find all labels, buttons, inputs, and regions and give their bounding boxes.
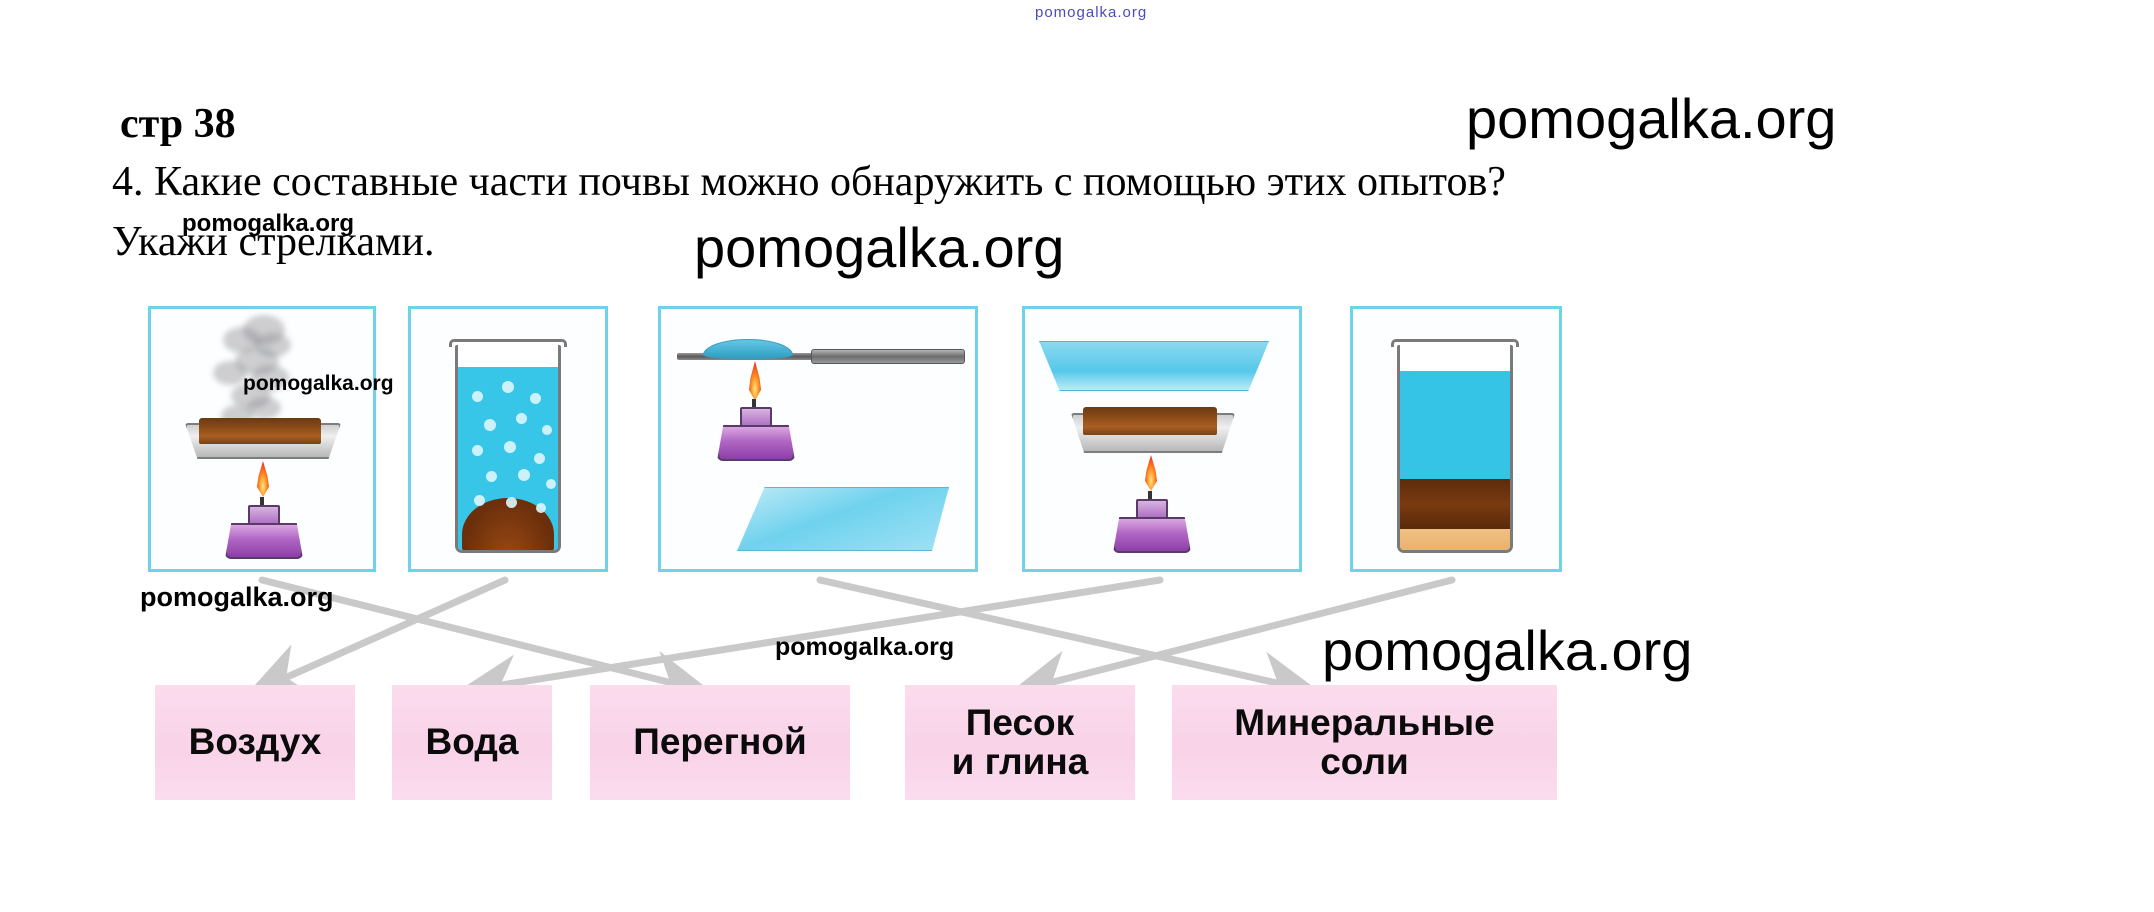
spirit-lamp-icon (1113, 491, 1187, 553)
watermark-large-center: pomogalka.org (694, 215, 1064, 280)
worksheet-page: стр 38 4. Какие составные части почвы мо… (0, 0, 2154, 912)
spirit-lamp-icon (717, 399, 791, 461)
beaker-icon (1397, 345, 1513, 553)
experiment-panel-soil-in-water (408, 306, 608, 572)
flame-icon (747, 361, 763, 401)
watermark-small-mid-arrows: pomogalka.org (775, 633, 954, 662)
watermark-large-bottom-right: pomogalka.org (1322, 618, 1692, 683)
water-layer (1400, 371, 1510, 479)
sand-layer (1400, 529, 1510, 553)
answer-label: Перегной (633, 723, 806, 762)
experiment-panel-heating-soil-smoke (148, 306, 376, 572)
tongs-icon (811, 349, 965, 364)
answer-label: Песок и глина (952, 704, 1089, 782)
spoon-icon (703, 339, 793, 359)
answer-box-voda[interactable]: Вода (392, 685, 552, 800)
experiment-panel-settled-layers (1350, 306, 1562, 572)
watermark-large-top-right: pomogalka.org (1466, 86, 1836, 151)
watermark-small-under-heading: pomogalka.org (182, 210, 354, 238)
answer-box-mineralnye-soli[interactable]: Минеральные соли (1172, 685, 1557, 800)
cold-glass-dish-icon (1039, 341, 1269, 391)
answer-box-pesok-glina[interactable]: Песок и глина (905, 685, 1135, 800)
beaker-icon (455, 345, 561, 553)
glass-plate-icon (737, 487, 949, 551)
soil-sample-icon (1083, 407, 1217, 435)
watermark-small-panel-1: pomogalka.org (243, 372, 394, 396)
soil-sample-icon (199, 418, 321, 444)
experiment-panel-evaporating-drop (658, 306, 978, 572)
experiment-panel-condensation (1022, 306, 1302, 572)
spirit-lamp-icon (225, 497, 299, 559)
answer-box-peregnoy[interactable]: Перегной (590, 685, 850, 800)
answer-box-vozduh[interactable]: Воздух (155, 685, 355, 800)
question-text-line-1: 4. Какие составные части почвы можно обн… (112, 158, 1506, 206)
answer-label: Воздух (189, 723, 322, 762)
answer-label: Вода (426, 723, 519, 762)
flame-icon (255, 461, 271, 497)
watermark-top-blue: pomogalka.org (1035, 4, 1147, 21)
page-label: стр 38 (120, 100, 236, 148)
flame-icon (1143, 455, 1159, 491)
watermark-small-left-arrows: pomogalka.org (140, 582, 334, 613)
clay-humus-layer (1400, 479, 1510, 529)
answer-label: Минеральные соли (1234, 704, 1494, 782)
